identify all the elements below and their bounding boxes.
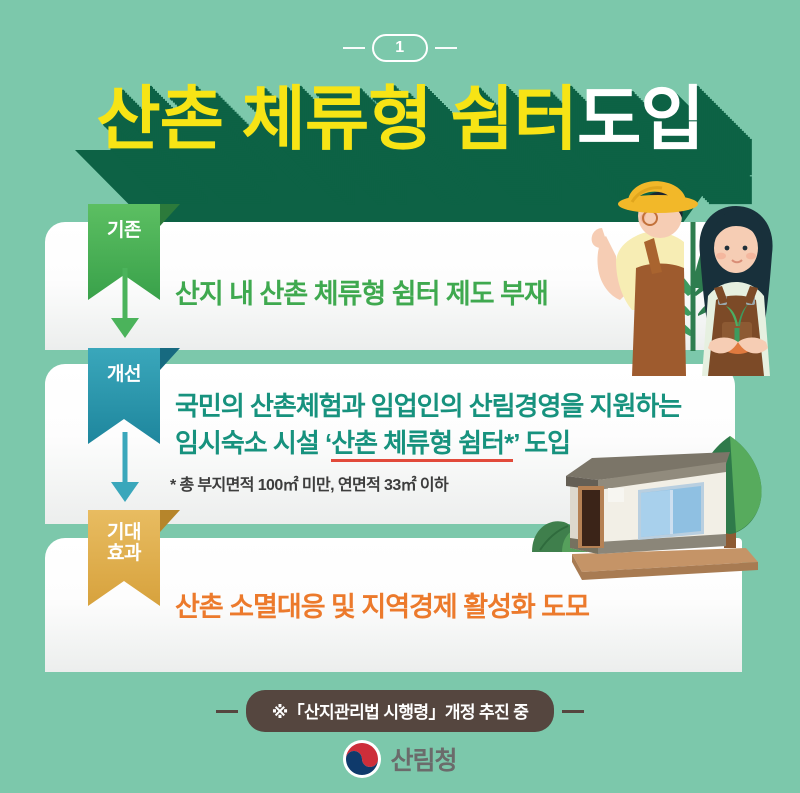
line2-prefix: 임시숙소 시설 ‘ bbox=[175, 428, 331, 458]
page-title-highlight: 산촌 체류형 쉼터 bbox=[96, 80, 577, 158]
line2-underlined-term: 산촌 체류형 쉼터* bbox=[331, 428, 513, 462]
korea-government-taegeuk-icon bbox=[343, 740, 381, 778]
badge-line-left bbox=[343, 47, 365, 49]
farmer-man bbox=[592, 181, 698, 376]
page-title-plain: 도입 bbox=[577, 80, 704, 158]
agency-logo-row: 산림청 bbox=[0, 740, 800, 778]
page-title: 산촌 체류형 쉼터도입 bbox=[0, 84, 800, 154]
row-text-existing: 산지 내 산촌 체류형 쉼터 제도 부재 bbox=[175, 272, 548, 311]
agency-name: 산림청 bbox=[390, 741, 456, 777]
arrow-down-icon-2 bbox=[108, 432, 142, 506]
two-farmers-illustration bbox=[588, 176, 800, 376]
ribbon-label-line2: 효과 bbox=[107, 543, 141, 564]
ribbon-improvement: 개선 bbox=[88, 348, 160, 444]
footer-note: ※「산지관리법 시행령」개정 추진 중 bbox=[246, 690, 555, 732]
ribbon-label-improvement: 개선 bbox=[88, 348, 160, 444]
farmer-woman bbox=[699, 206, 772, 376]
footer-line-right bbox=[562, 710, 584, 713]
arrow-down-icon-1 bbox=[108, 268, 142, 342]
ribbon-expected-effect: 기대 효과 bbox=[88, 510, 160, 606]
badge-line-right bbox=[435, 47, 457, 49]
section-number-badge: 1 bbox=[0, 34, 800, 62]
row-text-improvement-line1: 국민의 산촌체험과 임업인의 산림경영을 지원하는 bbox=[175, 388, 681, 425]
ribbon-label-expected-effect: 기대 효과 bbox=[88, 510, 160, 606]
footer-note-row: ※「산지관리법 시행령」개정 추진 중 bbox=[0, 690, 800, 732]
shelter-house-illustration bbox=[520, 430, 800, 605]
ribbon-label-line1: 기대 bbox=[107, 522, 141, 543]
footer-line-left bbox=[216, 710, 238, 713]
infographic-card: 1 산촌 체류형 쉼터도입 bbox=[0, 0, 800, 793]
footnote-area-limits: * 총 부지면적 100㎡ 미만, 연면적 33㎡ 이하 bbox=[170, 471, 448, 495]
badge-number: 1 bbox=[372, 34, 428, 62]
